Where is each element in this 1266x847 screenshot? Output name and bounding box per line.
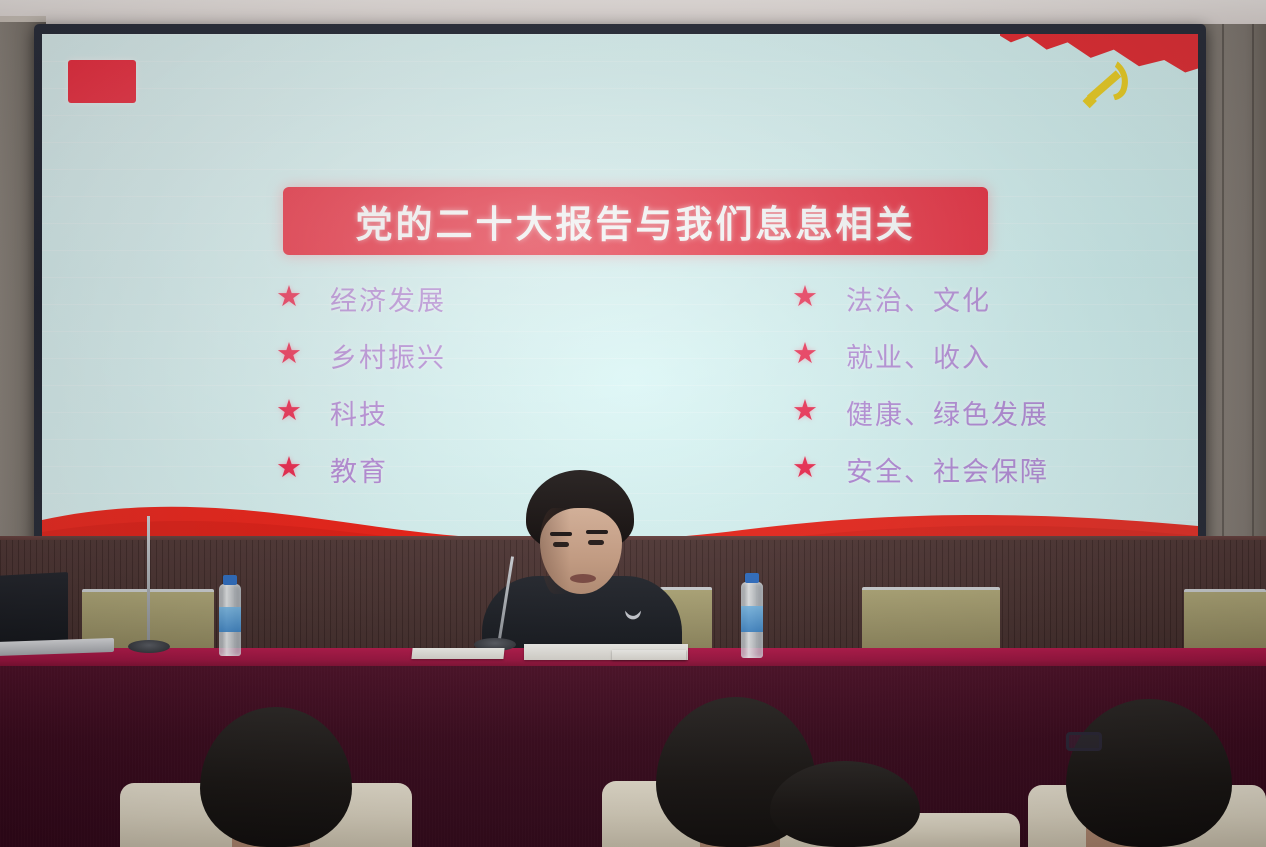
- audience-head: [1066, 699, 1232, 847]
- list-item: ★ 就业、收入: [790, 329, 1198, 381]
- laptop-screen: [0, 572, 68, 648]
- bullet-label-rural: 乡村振兴: [330, 336, 446, 375]
- list-item: [120, 667, 420, 847]
- documents-left: [411, 648, 504, 659]
- list-item: [1028, 657, 1266, 847]
- eyeglasses-icon: [1066, 732, 1102, 751]
- bottle-cap: [745, 573, 759, 583]
- star-icon: ★: [790, 397, 820, 427]
- wall-seam: [1252, 24, 1254, 569]
- wall-seam: [1222, 24, 1224, 569]
- list-item: ★ 乡村振兴: [274, 329, 682, 381]
- audience-head: [770, 761, 920, 847]
- bullet-label-rule-of-law-culture: 法治、文化: [846, 279, 991, 318]
- bottle-cap: [223, 575, 237, 585]
- bullet-label-economy: 经济发展: [330, 279, 446, 318]
- list-item: ★ 科技: [274, 386, 682, 438]
- star-icon: ★: [274, 340, 304, 370]
- list-item: [770, 751, 1000, 847]
- page-title: 党的二十大报告与我们息息相关: [356, 194, 916, 248]
- star-icon: ★: [790, 454, 820, 484]
- microphone-stem: [147, 516, 150, 648]
- water-bottle: [219, 584, 241, 656]
- list-item: ★ 经济发展: [274, 272, 682, 324]
- speaker-face-shadow: [540, 508, 570, 594]
- bullet-label-safety-social-security: 安全、社会保障: [846, 450, 1049, 489]
- speaker-eyebrow: [586, 530, 608, 534]
- speaker-mouth: [570, 574, 596, 583]
- water-bottle: [741, 582, 763, 658]
- bottle-label: [219, 607, 241, 631]
- bullet-column-right: ★ 法治、文化 ★ 就业、收入 ★ 健康、绿色发展 ★ 安全、社会保障: [682, 272, 1198, 507]
- list-item: ★ 健康、绿色发展: [790, 386, 1198, 438]
- star-icon: ★: [274, 283, 304, 313]
- list-item: ★ 法治、文化: [790, 272, 1198, 324]
- star-icon: ★: [274, 454, 304, 484]
- speaker-eyebrow: [550, 532, 572, 536]
- wall-right: [1196, 24, 1266, 569]
- star-icon: ★: [274, 397, 304, 427]
- star-icon: ★: [790, 340, 820, 370]
- speaker-eye: [553, 542, 569, 547]
- conference-room-photo: 党的二十大报告与我们息息相关 ★ 经济发展 ★ 乡村振兴 ★ 科技 ★ 教育: [0, 0, 1266, 847]
- under-armour-logo-icon: [622, 608, 644, 622]
- bottle-label: [741, 606, 763, 632]
- slide-title-bar: 党的二十大报告与我们息息相关: [283, 187, 988, 255]
- speaker-eye: [588, 540, 604, 545]
- bullet-label-health-green: 健康、绿色发展: [846, 393, 1049, 432]
- audience-head: [200, 707, 352, 847]
- star-icon: ★: [790, 283, 820, 313]
- microphone-base: [128, 640, 170, 653]
- slide-decor-red-box: [68, 60, 136, 103]
- slide-party-flag: [1000, 34, 1198, 118]
- hammer-and-sickle-icon: [1068, 56, 1142, 110]
- bullet-label-education: 教育: [330, 450, 388, 489]
- bullet-label-employment-income: 就业、收入: [846, 336, 991, 375]
- bullet-label-technology: 科技: [330, 393, 388, 432]
